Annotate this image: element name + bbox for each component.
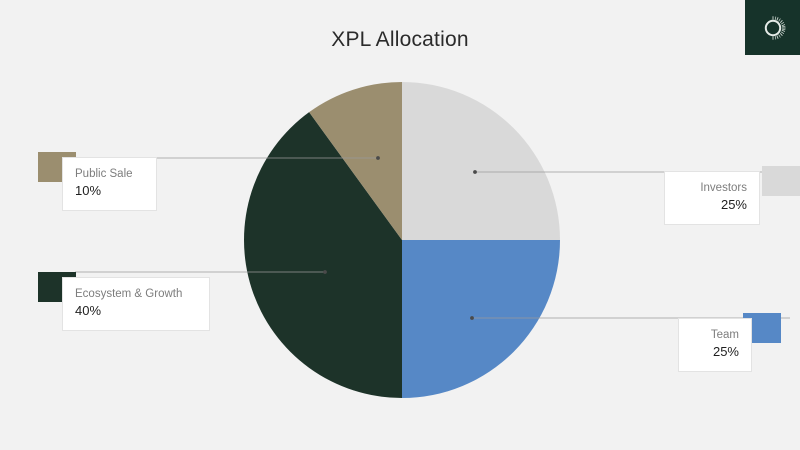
callout-card-public-sale[interactable]: Public Sale 10% [62, 157, 157, 211]
pie-svg [242, 80, 562, 400]
callout-card-investors[interactable]: Investors 25% [664, 171, 760, 225]
callout-value-investors: 25% [677, 196, 747, 214]
callout-label-public-sale: Public Sale [75, 166, 144, 182]
callout-label-team: Team [691, 327, 739, 343]
callout-label-investors: Investors [677, 180, 747, 196]
swatch-investors [762, 166, 800, 196]
pie-slice-investors[interactable] [402, 82, 560, 240]
chart-title: XPL Allocation [0, 28, 800, 52]
callout-card-ecosystem-growth[interactable]: Ecosystem & Growth 40% [62, 277, 210, 331]
callout-value-public-sale: 10% [75, 182, 144, 200]
callout-value-ecosystem-growth: 40% [75, 302, 197, 320]
slide-canvas: XPL Allocation Public Sale 10% [0, 0, 800, 450]
pie-slice-team[interactable] [402, 240, 560, 398]
pie-chart [242, 80, 562, 400]
callout-card-team[interactable]: Team 25% [678, 318, 752, 372]
callout-label-ecosystem-growth: Ecosystem & Growth [75, 286, 197, 302]
callout-value-team: 25% [691, 343, 739, 361]
